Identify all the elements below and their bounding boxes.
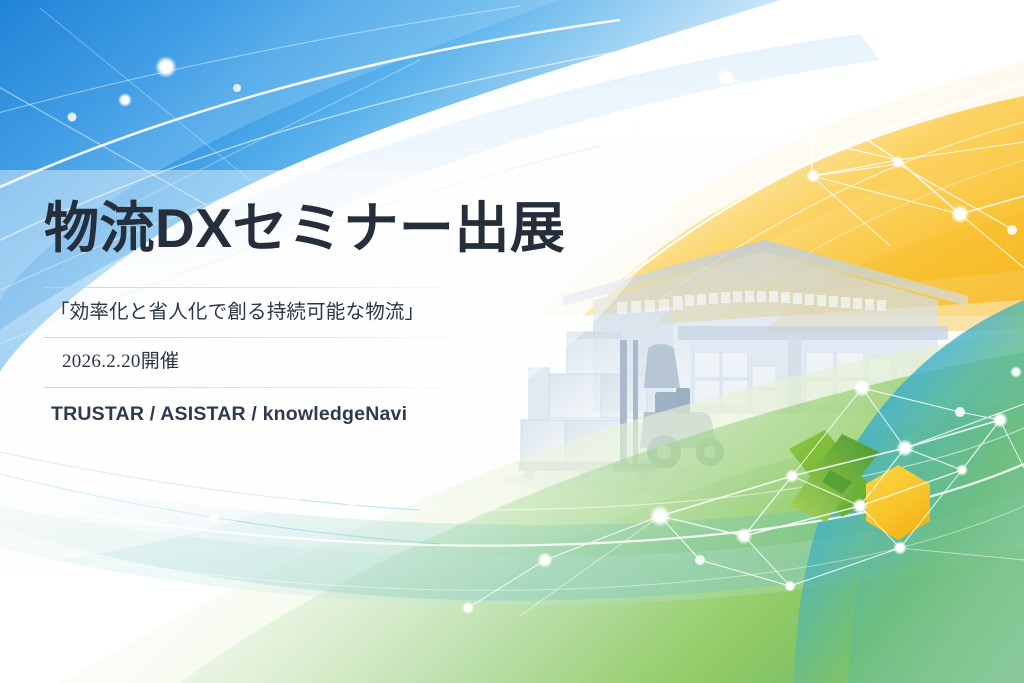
slide-canvas: 物流DXセミナー出展 「効率化と省人化で創る持続可能な物流」 2026.2.20… [0,0,1024,683]
yellow-network-nodes [717,69,1017,235]
subtitle-text: 「効率化と省人化で創る持続可能な物流」 [50,299,664,325]
blue-network-nodes [68,56,242,122]
headline-block: 物流DXセミナー出展 「効率化と省人化で創る持続可能な物流」 2026.2.20… [44,196,664,427]
logo-mark-group [789,430,879,522]
brand-list: TRUSTAR / ASISTAR / knowledgeNavi [51,401,664,427]
page-title: 物流DXセミナー出展 [44,196,664,260]
event-date: 2026.2.20開催 [62,349,664,374]
divider-3 [44,387,480,388]
yellow-hexagon [866,465,930,540]
divider-2 [44,337,480,338]
divider-1 [44,287,480,288]
